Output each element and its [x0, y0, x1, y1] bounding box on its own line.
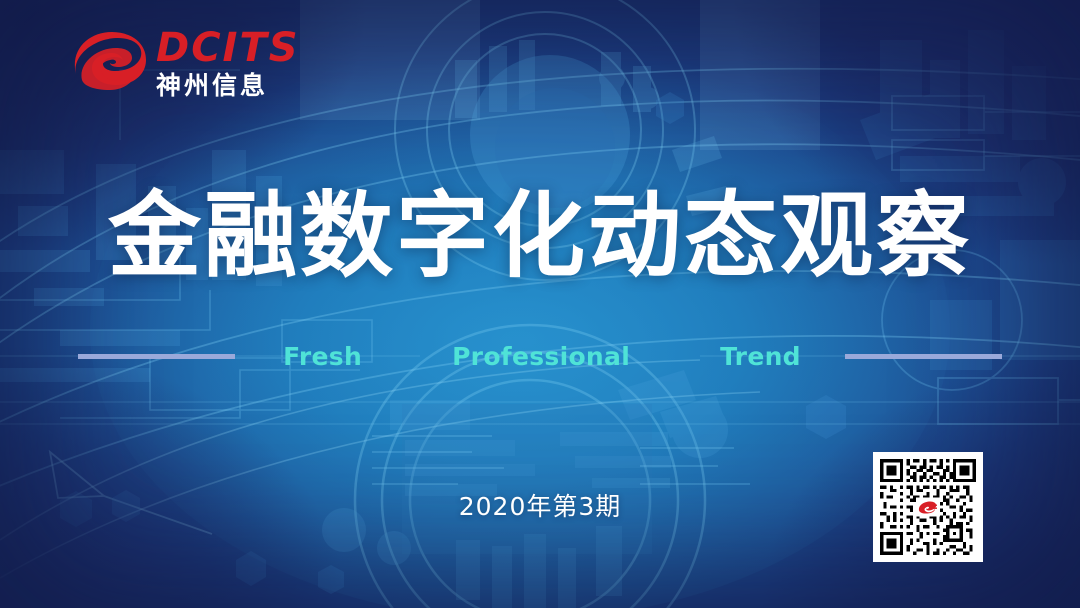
tagline-word-professional: Professional — [452, 342, 630, 371]
qr-center-dcits-logo-icon — [916, 498, 940, 517]
logo-wordmark-en: DCITS — [156, 28, 300, 68]
tagline-word-fresh: Fresh — [283, 342, 362, 371]
tagline-row: Fresh Professional Trend — [0, 338, 1080, 374]
presentation-slide: DCITS 神州信息 金融数字化动态观察 Fresh Professional … — [0, 0, 1080, 608]
tagline-rule-right — [845, 354, 1002, 359]
tagline-word-trend: Trend — [720, 342, 801, 371]
brand-logo: DCITS 神州信息 — [68, 28, 300, 98]
page-title: 金融数字化动态观察 — [0, 186, 1080, 286]
logo-wordmark-cn: 神州信息 — [156, 73, 300, 98]
tagline-rule-left — [78, 354, 235, 359]
wechat-qr-code[interactable] — [873, 452, 983, 562]
dcits-swoosh-icon — [68, 30, 146, 96]
